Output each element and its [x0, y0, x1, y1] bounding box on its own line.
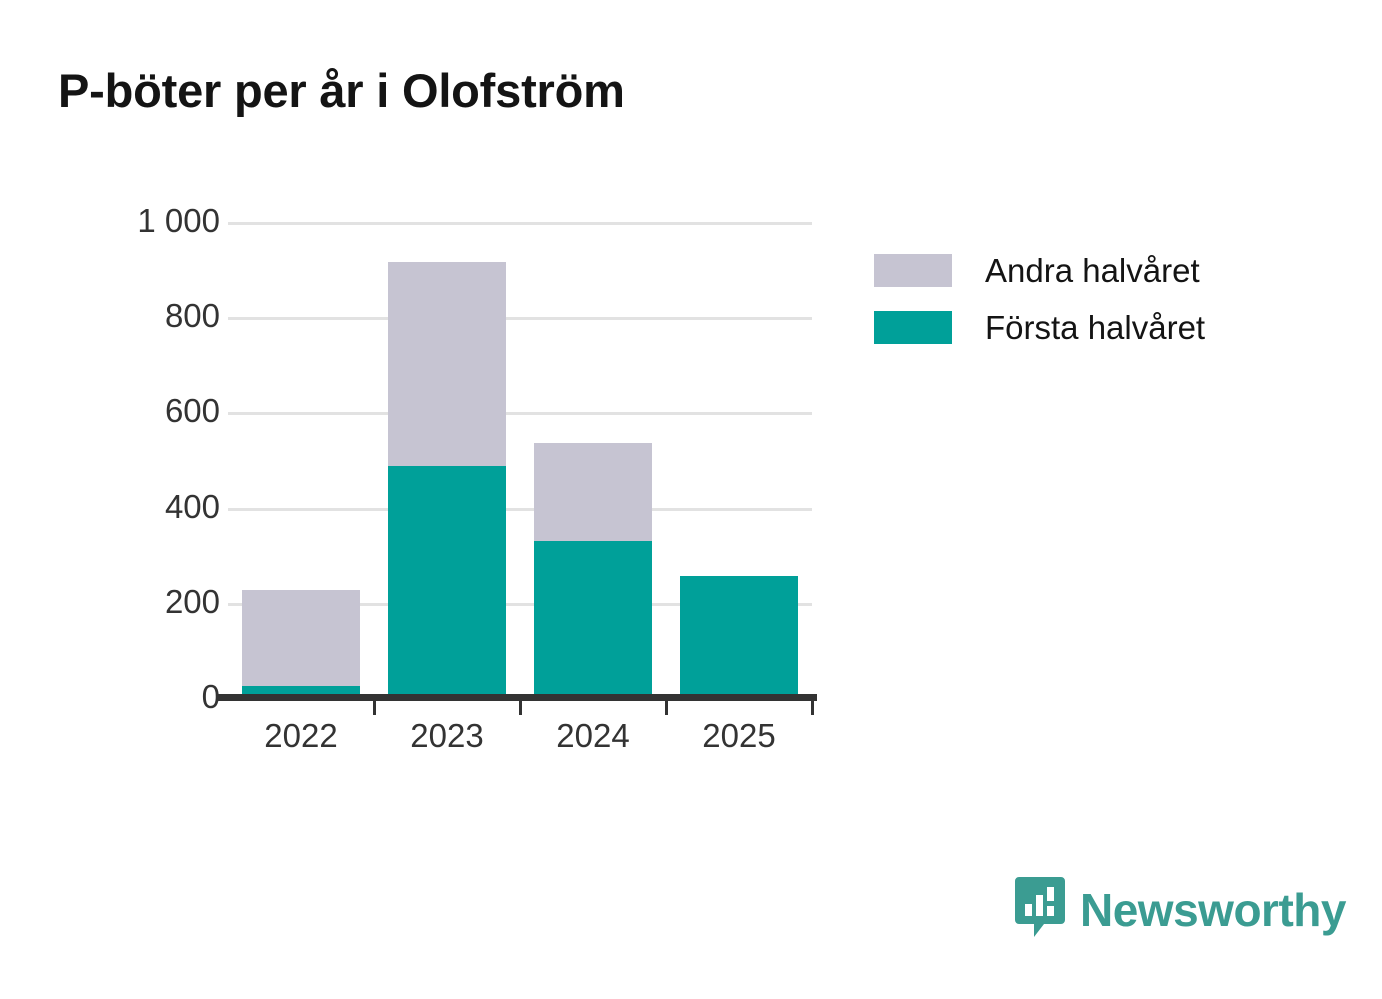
x-axis-tick-label: 2024	[523, 719, 663, 752]
x-axis-line	[217, 694, 817, 701]
x-axis-tick-mark	[811, 701, 814, 715]
x-axis-tick-mark	[519, 701, 522, 715]
newsworthy-wordmark: Newsworthy	[1080, 887, 1346, 933]
bar-segment[interactable]	[388, 262, 506, 466]
x-axis-tick-mark	[665, 701, 668, 715]
y-axis-tick-label: 600	[165, 394, 220, 427]
x-axis-tick-label: 2023	[377, 719, 517, 752]
legend-label: Andra halvåret	[985, 254, 1200, 287]
newsworthy-logo: Newsworthy	[1014, 876, 1346, 943]
bar-group-2025[interactable]	[680, 222, 798, 698]
bar-group-2024[interactable]	[534, 222, 652, 698]
page-title: P-böter per år i Olofström	[58, 63, 625, 118]
bar-segment[interactable]	[534, 443, 652, 541]
legend-label: Första halvåret	[985, 311, 1205, 344]
legend-item[interactable]: Andra halvåret	[874, 242, 1205, 299]
y-axis-tick-label: 400	[165, 490, 220, 523]
bar-segment[interactable]	[680, 576, 798, 698]
y-axis-tick-label: 800	[165, 299, 220, 332]
bar-segment[interactable]	[242, 590, 360, 686]
bar-group-2023[interactable]	[388, 222, 506, 698]
chart-container: P-böter per år i Olofström 0200400600800…	[0, 0, 1382, 999]
bar-segment[interactable]	[534, 541, 652, 698]
y-axis-tick-label: 1 000	[137, 204, 220, 237]
legend-item[interactable]: Första halvåret	[874, 299, 1205, 356]
y-axis-tick-label: 200	[165, 585, 220, 618]
plot-area	[228, 222, 812, 698]
chart-legend: Andra halvåretFörsta halvåret	[874, 242, 1205, 356]
bar-segment[interactable]	[388, 466, 506, 698]
bar-group-2022[interactable]	[242, 222, 360, 698]
x-axis-tick-mark	[373, 701, 376, 715]
bar-chart-speech-bubble-icon	[1014, 876, 1066, 943]
x-axis-tick-label: 2025	[669, 719, 809, 752]
x-axis-tick-label: 2022	[231, 719, 371, 752]
legend-swatch	[874, 254, 952, 287]
legend-swatch	[874, 311, 952, 344]
